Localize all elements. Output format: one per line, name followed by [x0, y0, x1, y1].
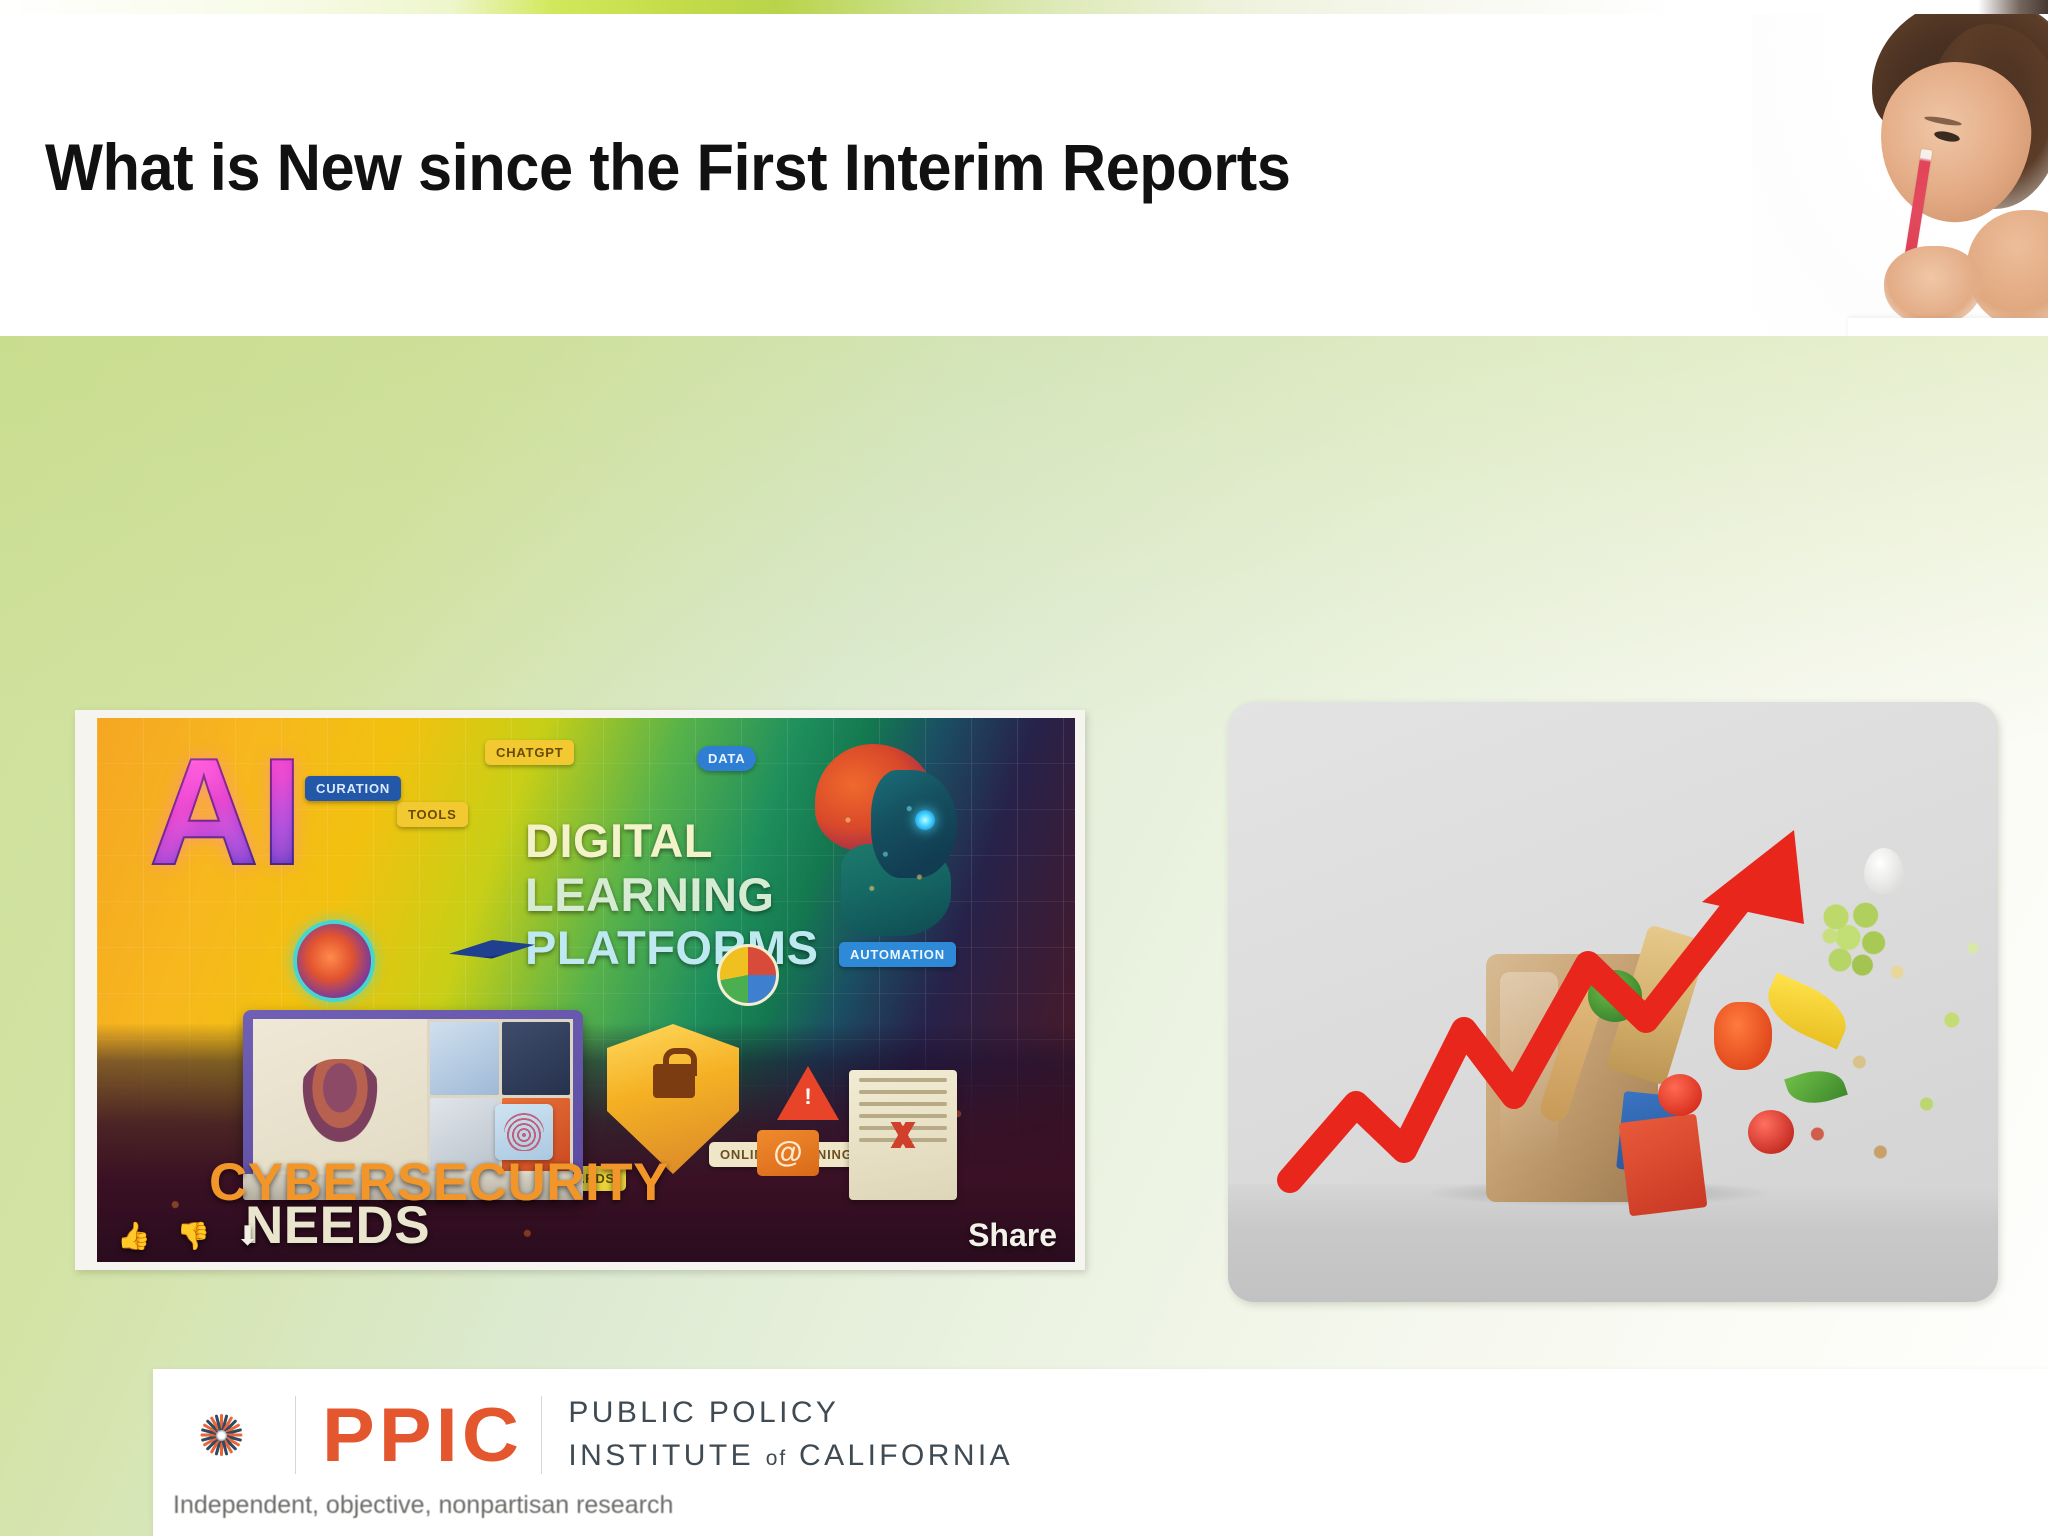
thumbs-down-icon: 👎 — [177, 1223, 211, 1250]
tag-automation: AUTOMATION — [839, 942, 956, 967]
ai-infographic-image: AI DIGITAL LEARNING PLATFORMS DATA CHATG… — [97, 718, 1075, 1262]
digital-learning-platforms-text: DIGITAL LEARNING PLATFORMS — [525, 814, 818, 975]
warning-glyph: ! — [804, 1084, 811, 1110]
share-label: Share — [968, 1217, 1057, 1254]
robot-circuit-dots — [797, 744, 967, 934]
brain-circle-icon — [293, 920, 375, 1002]
fingerprint-icon — [495, 1104, 553, 1160]
dlp-line-2: LEARNING — [525, 868, 818, 922]
ppic-wordmark: PPIC — [322, 1392, 523, 1479]
pie-chart-icon — [717, 944, 779, 1006]
ai-infographic-card: AI DIGITAL LEARNING PLATFORMS DATA CHATG… — [75, 710, 1085, 1270]
ppic-tagline: Independent, objective, nonpartisan rese… — [173, 1491, 793, 1520]
ppic-org-name: PUBLIC POLICY INSTITUTE of CALIFORNIA — [568, 1392, 1013, 1477]
slide-body: AI DIGITAL LEARNING PLATFORMS DATA CHATG… — [0, 336, 2048, 1536]
at-symbol-icon: @ — [757, 1130, 819, 1176]
tag-tools: TOOLS — [397, 802, 468, 827]
org-line-2: INSTITUTE of CALIFORNIA — [568, 1435, 1013, 1478]
ppic-blog-card: PPIC PUBLIC POLICY INSTITUTE of CALIFORN… — [153, 1369, 2048, 1536]
starburst-icon — [173, 1387, 269, 1483]
page-title: What is New since the First Interim Repo… — [45, 129, 1290, 205]
thumbs-up-icon: 👍 — [117, 1223, 151, 1250]
download-icon: ⬇ — [236, 1223, 259, 1250]
clipboard-trend-line — [861, 1122, 945, 1148]
reaction-icons: 👍 👎 ⬇ — [117, 1223, 259, 1250]
clipboard-report-icon — [849, 1070, 957, 1200]
child-writing-photo — [1752, 14, 2048, 344]
grocery-inflation-card — [1228, 702, 1998, 1302]
teacher-tile — [253, 1019, 427, 1174]
tag-data: DATA — [697, 746, 756, 771]
top-accent-strip — [0, 0, 2048, 14]
ppic-logo-row: PPIC PUBLIC POLICY INSTITUTE of CALIFORN… — [173, 1387, 1013, 1483]
rising-cost-arrow-icon — [1228, 702, 1998, 1302]
child-hand — [1884, 246, 1982, 326]
org-california: CALIFORNIA — [799, 1439, 1013, 1472]
org-of: of — [766, 1447, 788, 1470]
logo-divider-left — [295, 1396, 296, 1474]
needs-text: NEEDS — [245, 1195, 430, 1256]
lock-icon — [653, 1064, 695, 1098]
slide-header: What is New since the First Interim Repo… — [0, 14, 2048, 336]
robot-head-icon — [797, 744, 967, 934]
org-institute: INSTITUTE — [568, 1439, 754, 1472]
tag-curation: CURATION — [305, 776, 401, 801]
ai-letters: AI — [149, 736, 305, 888]
tag-chatgpt: CHATGPT — [485, 740, 574, 765]
logo-divider-right — [541, 1396, 542, 1474]
slide-root: What is New since the First Interim Repo… — [0, 0, 2048, 1536]
org-line-1: PUBLIC POLICY — [568, 1392, 1013, 1435]
dlp-line-1: DIGITAL — [525, 814, 818, 868]
